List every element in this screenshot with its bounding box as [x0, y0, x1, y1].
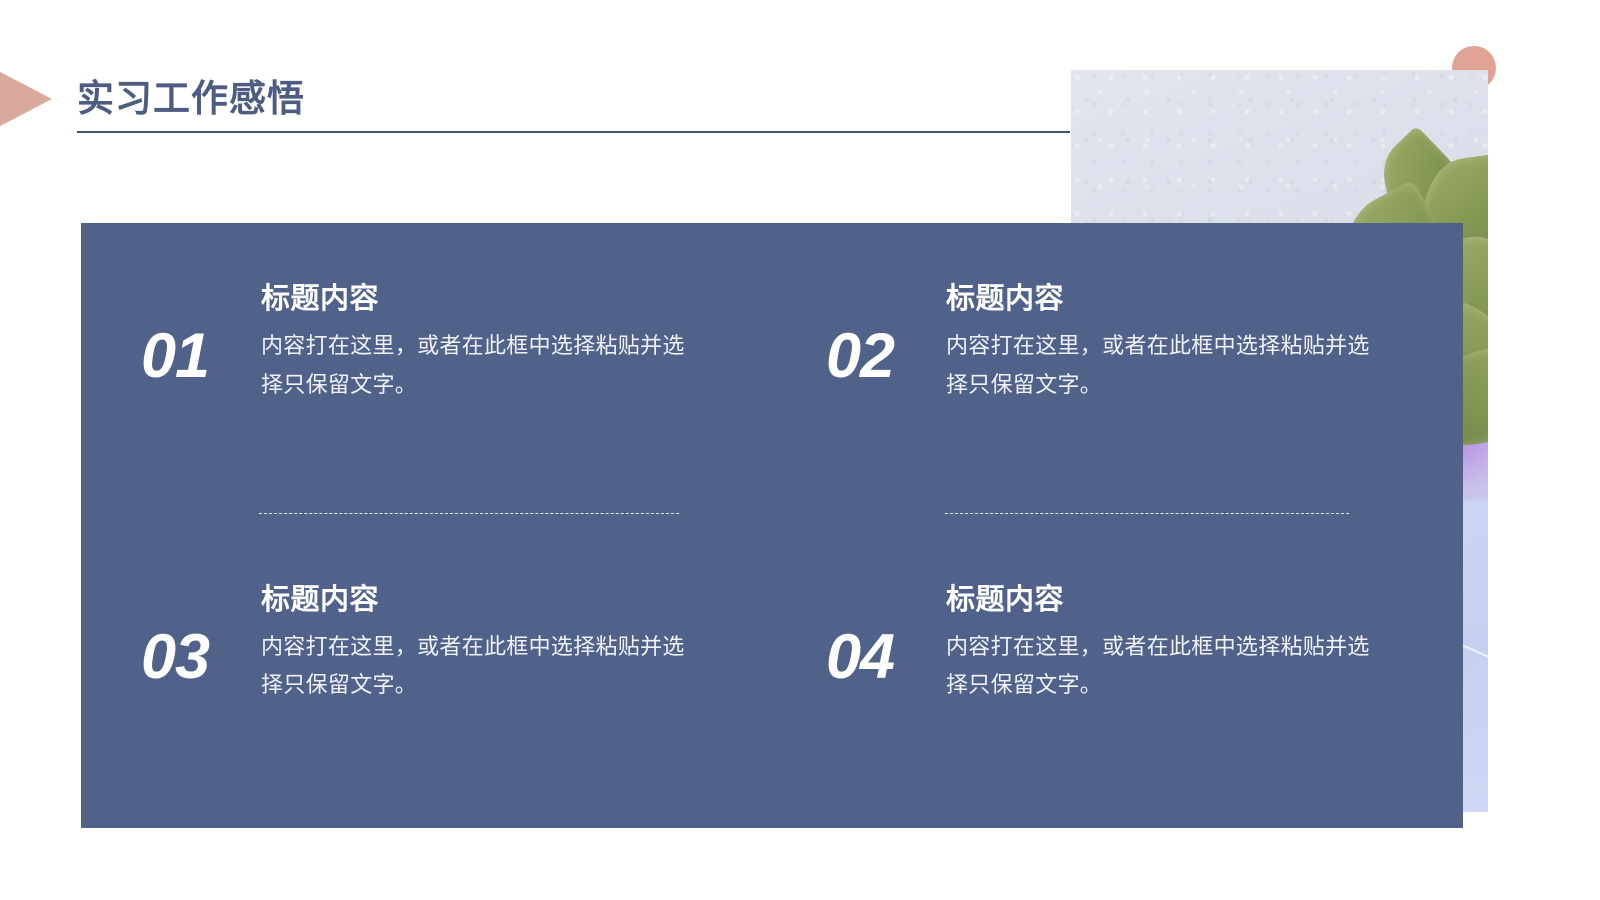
item-body: 内容打在这里，或者在此框中选择粘贴并选择只保留文字。 [946, 327, 1376, 404]
item-number: 02 [826, 325, 946, 388]
item-body: 内容打在这里，或者在此框中选择粘贴并选择只保留文字。 [261, 628, 691, 705]
item-texts: 标题内容 内容打在这里，或者在此框中选择粘贴并选择只保留文字。 [946, 582, 1376, 705]
page-title: 实习工作感悟 [77, 68, 305, 122]
content-cell: 01 标题内容 内容打在这里，或者在此框中选择粘贴并选择只保留文字。 [81, 223, 772, 526]
item-number: 01 [141, 325, 261, 388]
item-body: 内容打在这里，或者在此框中选择粘贴并选择只保留文字。 [261, 327, 691, 404]
right-arrow-marker-icon [0, 52, 52, 146]
content-grid: 01 标题内容 内容打在这里，或者在此框中选择粘贴并选择只保留文字。 02 标题… [81, 223, 1463, 828]
divider-dashed-left [259, 513, 679, 514]
item-title: 标题内容 [261, 281, 691, 317]
content-item-04[interactable]: 04 标题内容 内容打在这里，或者在此框中选择粘贴并选择只保留文字。 [826, 582, 1376, 705]
item-body: 内容打在这里，或者在此框中选择粘贴并选择只保留文字。 [946, 628, 1376, 705]
item-number: 03 [141, 626, 261, 689]
content-cell: 02 标题内容 内容打在这里，或者在此框中选择粘贴并选择只保留文字。 [772, 223, 1463, 526]
content-item-02[interactable]: 02 标题内容 内容打在这里，或者在此框中选择粘贴并选择只保留文字。 [826, 281, 1376, 404]
slide-canvas: 实习工作感悟 01 标题内容 [0, 0, 1600, 900]
item-number: 04 [826, 626, 946, 689]
content-item-03[interactable]: 03 标题内容 内容打在这里，或者在此框中选择粘贴并选择只保留文字。 [141, 582, 691, 705]
content-panel: 01 标题内容 内容打在这里，或者在此框中选择粘贴并选择只保留文字。 02 标题… [81, 223, 1463, 828]
divider-dashed-right [945, 513, 1349, 514]
item-title: 标题内容 [946, 582, 1376, 618]
content-item-01[interactable]: 01 标题内容 内容打在这里，或者在此框中选择粘贴并选择只保留文字。 [141, 281, 691, 404]
item-texts: 标题内容 内容打在这里，或者在此框中选择粘贴并选择只保留文字。 [946, 281, 1376, 404]
title-divider-rule [77, 131, 1070, 133]
item-title: 标题内容 [946, 281, 1376, 317]
item-title: 标题内容 [261, 582, 691, 618]
content-cell: 03 标题内容 内容打在这里，或者在此框中选择粘贴并选择只保留文字。 [81, 526, 772, 829]
item-texts: 标题内容 内容打在这里，或者在此框中选择粘贴并选择只保留文字。 [261, 582, 691, 705]
content-cell: 04 标题内容 内容打在这里，或者在此框中选择粘贴并选择只保留文字。 [772, 526, 1463, 829]
item-texts: 标题内容 内容打在这里，或者在此框中选择粘贴并选择只保留文字。 [261, 281, 691, 404]
